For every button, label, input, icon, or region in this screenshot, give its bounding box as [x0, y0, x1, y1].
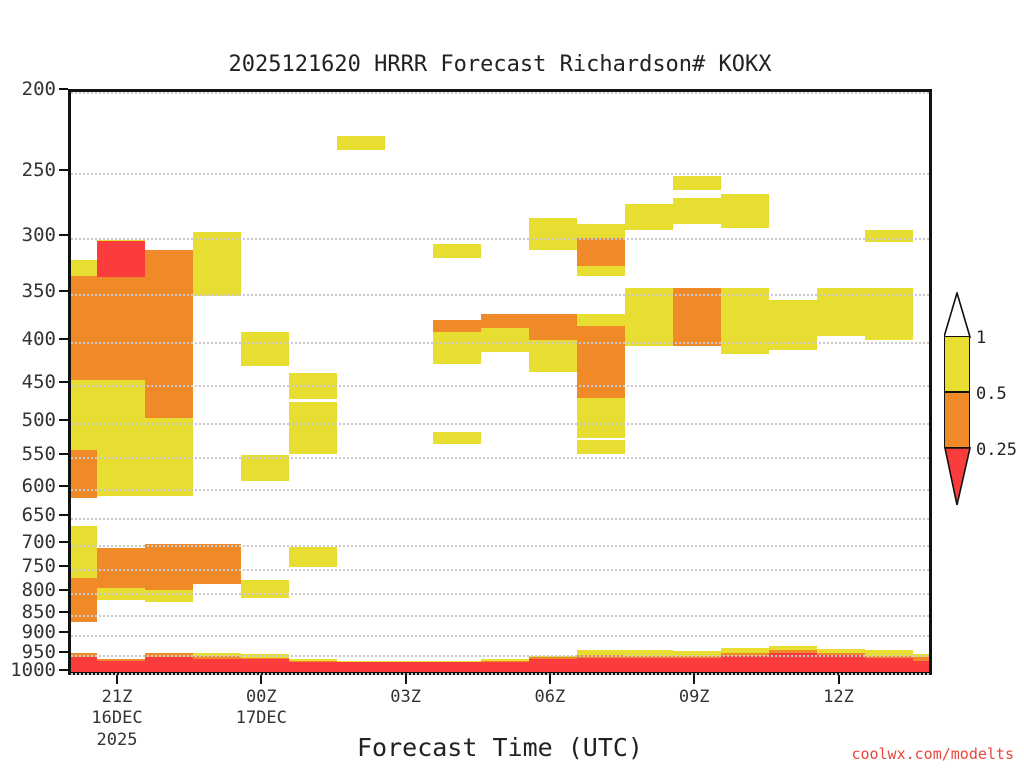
gridline	[71, 635, 929, 638]
y-tick-mark	[59, 514, 68, 516]
gridline	[71, 518, 929, 521]
heatmap-cell	[529, 659, 577, 672]
y-tick-label: 250	[0, 161, 56, 180]
colorbar-tick-label: 0.25	[976, 440, 1017, 460]
heatmap-cell	[145, 250, 193, 377]
plot-area	[68, 89, 932, 675]
heatmap-cell	[97, 548, 145, 588]
x-tick-mark	[838, 675, 840, 684]
heatmap-cell	[721, 310, 769, 354]
y-tick-mark	[59, 651, 68, 653]
y-tick-label: 200	[0, 80, 56, 99]
y-tick-mark	[59, 611, 68, 613]
heatmap-cell	[145, 418, 193, 444]
y-tick-mark	[59, 541, 68, 543]
y-tick-mark	[59, 290, 68, 292]
y-tick-label: 400	[0, 330, 56, 349]
heatmap-cell	[289, 662, 337, 672]
heatmap-cell	[193, 659, 241, 672]
y-tick-mark	[59, 88, 68, 90]
heatmap-cell	[721, 194, 769, 228]
heatmap-cell	[71, 657, 97, 672]
heatmap-cell	[337, 662, 385, 672]
heatmap-cell	[625, 204, 673, 230]
gridline	[71, 457, 929, 460]
x-axis-title: Forecast Time (UTC)	[180, 733, 820, 762]
x-tick-label: 12Z	[779, 687, 899, 708]
y-tick-label: 450	[0, 373, 56, 392]
heatmap-cell	[433, 432, 481, 444]
y-tick-mark	[59, 234, 68, 236]
gridline	[71, 294, 929, 297]
heatmap-cell	[289, 402, 337, 454]
heatmap-cell	[145, 544, 193, 590]
colorbar-bottom-arrow	[944, 447, 972, 511]
gridline	[71, 545, 929, 548]
x-tick-mark	[693, 675, 695, 684]
heatmap-cell	[145, 657, 193, 672]
heatmap-cell	[529, 314, 577, 340]
heatmap-cell	[241, 332, 289, 366]
y-tick-mark	[59, 381, 68, 383]
y-tick-label: 850	[0, 603, 56, 622]
heatmap-cell	[673, 176, 721, 190]
x-tick-label: 21Z 16DEC 2025	[57, 687, 177, 751]
heatmap-cell	[337, 136, 385, 150]
gridline	[71, 92, 929, 95]
gridline	[71, 489, 929, 492]
colorbar: 10.50.25	[944, 292, 1024, 492]
chart-title: 2025121620 HRRR Forecast Richardson# KOK…	[0, 52, 1000, 77]
gridline	[71, 655, 929, 658]
heatmap-cell	[433, 244, 481, 258]
chart-page: 2025121620 HRRR Forecast Richardson# KOK…	[0, 0, 1024, 768]
y-tick-mark	[59, 485, 68, 487]
heatmap-cell	[865, 658, 913, 672]
heatmap-cell	[433, 662, 481, 672]
y-tick-label: 900	[0, 623, 56, 642]
x-tick-mark	[549, 675, 551, 684]
gridline	[71, 673, 929, 676]
heatmap-cell	[193, 232, 241, 296]
heatmap-cell	[913, 661, 929, 672]
heatmap-cell	[577, 340, 625, 398]
heatmap-cell	[193, 544, 241, 584]
x-tick-label: 03Z	[346, 687, 466, 708]
x-tick-label: 00Z 17DEC	[201, 687, 321, 730]
y-tick-mark	[59, 338, 68, 340]
y-tick-mark	[59, 169, 68, 171]
heatmap-cell	[577, 398, 625, 438]
y-tick-mark	[59, 565, 68, 567]
heatmap-cell	[577, 238, 625, 266]
y-tick-label: 1000	[0, 661, 56, 680]
x-tick-mark	[260, 675, 262, 684]
heatmap-cell	[71, 276, 97, 380]
y-tick-label: 550	[0, 445, 56, 464]
heatmap-cell	[385, 662, 433, 672]
heatmap-cell	[289, 547, 337, 567]
gridline	[71, 238, 929, 241]
colorbar-yellow-segment	[944, 336, 970, 392]
colorbar-top-arrow-outline	[944, 292, 972, 342]
x-tick-label: 06Z	[490, 687, 610, 708]
y-tick-label: 800	[0, 581, 56, 600]
heatmap-cells	[71, 92, 929, 672]
x-tick-label: 09Z	[634, 687, 754, 708]
heatmap-cell	[97, 277, 145, 380]
y-tick-label: 700	[0, 533, 56, 552]
x-tick-mark	[405, 675, 407, 684]
heatmap-cell	[71, 380, 97, 450]
y-tick-label: 600	[0, 477, 56, 496]
heatmap-cell	[481, 662, 529, 672]
y-tick-label: 300	[0, 226, 56, 245]
heatmap-cell	[97, 241, 145, 277]
y-tick-label: 350	[0, 282, 56, 301]
heatmap-cell	[71, 260, 97, 276]
y-tick-mark	[59, 631, 68, 633]
heatmap-cell	[721, 656, 769, 672]
heatmap-cell	[145, 440, 193, 496]
colorbar-tick-label: 1	[976, 328, 986, 348]
y-tick-mark	[59, 589, 68, 591]
heatmap-cell	[673, 198, 721, 224]
heatmap-cell	[625, 658, 673, 672]
gridline	[71, 593, 929, 596]
gridline	[71, 569, 929, 572]
gridline	[71, 423, 929, 426]
heatmap-cell	[529, 218, 577, 232]
heatmap-cell	[577, 266, 625, 276]
credit-text: coolwx.com/modelts	[851, 745, 1014, 763]
heatmap-cell	[577, 314, 625, 326]
y-tick-mark	[59, 669, 68, 671]
heatmap-cell	[97, 661, 145, 672]
colorbar-tick-label: 0.5	[976, 384, 1007, 404]
heatmap-cell	[241, 659, 289, 672]
y-tick-label: 750	[0, 557, 56, 576]
colorbar-orange-segment	[944, 392, 970, 448]
y-tick-label: 650	[0, 506, 56, 525]
y-tick-mark	[59, 419, 68, 421]
gridline	[71, 615, 929, 618]
x-tick-mark	[116, 675, 118, 684]
gridline	[71, 385, 929, 388]
heatmap-cell	[433, 320, 481, 332]
heatmap-cell	[673, 658, 721, 672]
heatmap-cell	[481, 314, 529, 328]
gridline	[71, 342, 929, 345]
heatmap-cell	[577, 658, 625, 672]
heatmap-cell	[577, 440, 625, 454]
y-tick-mark	[59, 453, 68, 455]
y-tick-label: 500	[0, 411, 56, 430]
gridline	[71, 173, 929, 176]
